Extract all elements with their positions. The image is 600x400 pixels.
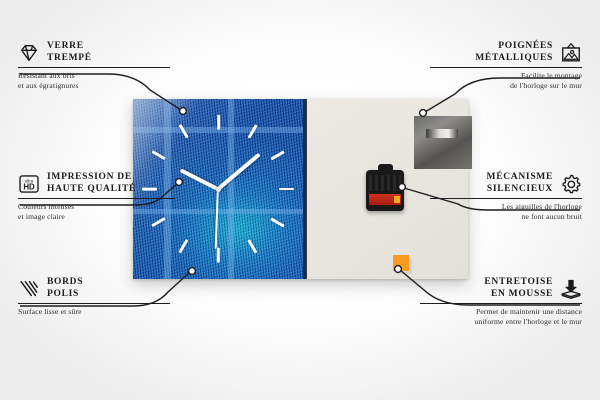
metal-hanger	[414, 116, 472, 169]
foam-spacer-icon	[560, 278, 582, 300]
callout-rule	[430, 198, 582, 199]
diamond-icon	[18, 42, 40, 64]
callout-verre-trempe: VERRE TREMPÉ Résistant aux bris et aux é…	[18, 41, 168, 90]
callout-title: POIGNÉES	[475, 41, 553, 53]
callout-subtitle: Résistant aux bris	[18, 71, 168, 80]
callout-title-2: POLIS	[47, 289, 83, 301]
hour-marker	[179, 240, 189, 254]
battery	[369, 194, 401, 205]
callout-rule	[18, 198, 175, 199]
callout-entretoise-en-mousse: ENTRETOISE EN MOUSSE Permet de maintenir…	[420, 277, 582, 326]
hour-marker	[279, 188, 294, 191]
polished-edges-icon	[18, 278, 40, 300]
mechanism-tab	[378, 164, 393, 172]
callout-title: MÉCANISME	[487, 172, 553, 184]
picture-frame-hanger-icon	[560, 42, 582, 64]
callout-impression-haute-qualite: ultra HD IMPRESSION DE HAUTE QUALITÉ Cou…	[18, 172, 178, 221]
ultra-hd-icon: ultra HD	[18, 173, 40, 195]
callout-rule	[18, 303, 170, 304]
callout-rule	[420, 303, 582, 304]
callout-title: BORDS	[47, 277, 83, 289]
callout-subtitle-2: de l'horloge sur le mur	[430, 81, 582, 90]
callout-title-2: TREMPÉ	[47, 53, 92, 65]
infographic-canvas: VERRE TREMPÉ Résistant aux bris et aux é…	[0, 0, 600, 400]
callout-title-2: HAUTE QUALITÉ	[47, 184, 136, 196]
mechanism-label	[369, 175, 401, 191]
callout-rule	[18, 67, 170, 68]
callout-subtitle: Surface lisse et sûre	[18, 307, 168, 316]
hour-marker	[217, 115, 220, 130]
callout-poignees-metalliques: POIGNÉES MÉTALLIQUES Facilite le montage…	[430, 41, 582, 90]
foam-spacer	[393, 255, 409, 271]
hour-marker	[247, 240, 257, 254]
callout-title-2: EN MOUSSE	[484, 289, 553, 301]
callout-bords-polis: BORDS POLIS Surface lisse et sûre	[18, 277, 168, 317]
callout-subtitle-2: ne font aucun bruit	[430, 212, 582, 221]
callout-title: IMPRESSION DE	[47, 172, 136, 184]
second-hand	[215, 189, 219, 249]
callout-subtitle-2: et image claire	[18, 212, 178, 221]
callout-title-2: SILENCIEUX	[487, 184, 553, 196]
callout-subtitle-2: et aux égratignures	[18, 81, 168, 90]
hour-marker	[217, 248, 220, 263]
callout-title-2: MÉTALLIQUES	[475, 53, 553, 65]
hour-marker	[270, 151, 284, 161]
gear-icon	[560, 173, 582, 195]
clock-hub	[216, 187, 221, 192]
clock-mechanism	[366, 170, 404, 211]
callout-rule	[430, 67, 582, 68]
callout-mecanisme-silencieux: MÉCANISME SILENCIEUX Les aiguilles de l'…	[430, 172, 582, 221]
hour-hand	[180, 168, 219, 191]
callout-subtitle-2: uniforme entre l'horloge et le mur	[420, 317, 582, 326]
hour-marker	[270, 217, 284, 227]
minute-hand	[217, 153, 261, 190]
product-photo	[133, 99, 468, 279]
ultra-hd-bottom-label: HD	[23, 182, 35, 191]
callout-title: VERRE	[47, 41, 92, 53]
callout-title: ENTRETOISE	[484, 277, 553, 289]
battery-terminal	[394, 196, 400, 203]
decor-grid-line	[228, 99, 234, 279]
callout-subtitle: Les aiguilles de l'horloge	[430, 202, 582, 211]
callout-subtitle: Permet de maintenir une distance	[420, 307, 582, 316]
hanger-slot	[426, 129, 458, 138]
callout-subtitle: Facilite le montage	[430, 71, 582, 80]
callout-subtitle: Couleurs intenses	[18, 202, 178, 211]
